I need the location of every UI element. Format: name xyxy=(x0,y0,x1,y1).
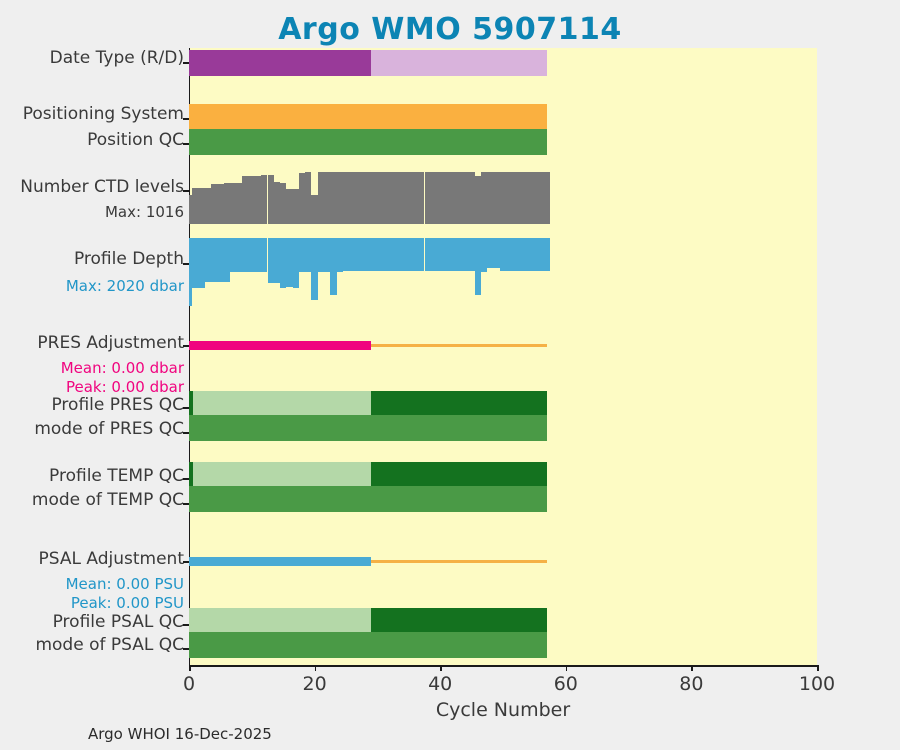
band-mode-of-psal-qc xyxy=(189,632,817,658)
row-label-date-type: Date Type (R/D) xyxy=(50,49,184,68)
band-profile-psal-qc xyxy=(189,608,817,632)
band-profile-depth xyxy=(189,238,817,306)
x-axis-label: Cycle Number xyxy=(189,699,817,721)
x-tick xyxy=(440,665,442,671)
x-tick-label: 0 xyxy=(154,673,224,695)
band-segment xyxy=(371,50,547,76)
x-tick xyxy=(691,665,693,671)
band-mode-of-temp-qc xyxy=(189,486,817,512)
row-label-profile-psal-qc: Profile PSAL QC xyxy=(53,613,184,632)
band-segment xyxy=(189,104,547,129)
row-label-psal-adjustment: PSAL Adjustment xyxy=(39,550,184,569)
row-label-pres-mean: Mean: 0.00 dbar xyxy=(61,359,184,378)
line-segment xyxy=(371,344,547,347)
band-segment xyxy=(371,608,547,632)
band-pres-adjustment xyxy=(189,334,817,356)
x-tick-label: 60 xyxy=(531,673,601,695)
x-tick-label: 100 xyxy=(782,673,852,695)
bar xyxy=(544,172,550,224)
x-tick-label: 40 xyxy=(405,673,475,695)
line-segment xyxy=(371,560,547,563)
bar xyxy=(544,238,550,271)
band-psal-adjustment xyxy=(189,550,817,572)
band-mode-of-pres-qc xyxy=(189,415,817,441)
band-profile-pres-qc xyxy=(189,391,817,415)
row-label-profile-depth: Profile Depth xyxy=(74,250,184,269)
row-label-ctd-max: Max: 1016 xyxy=(105,203,184,222)
band-position-qc xyxy=(189,129,817,155)
row-label-mode-of-psal-qc: mode of PSAL QC xyxy=(35,636,184,655)
band-positioning-system xyxy=(189,104,817,129)
band-segment xyxy=(371,391,547,415)
x-tick xyxy=(189,665,191,671)
line-segment xyxy=(189,341,371,350)
row-label-positioning-system: Positioning System xyxy=(23,105,184,124)
band-segment xyxy=(189,129,547,155)
row-label-pres-adjustment: PRES Adjustment xyxy=(37,334,184,353)
row-label-depth-max: Max: 2020 dbar xyxy=(66,277,184,296)
row-label-position-qc: Position QC xyxy=(87,131,184,150)
x-axis-line xyxy=(189,665,817,667)
row-label-mode-of-temp-qc: mode of TEMP QC xyxy=(32,491,184,510)
row-label-psal-mean: Mean: 0.00 PSU xyxy=(66,575,184,594)
band-segment xyxy=(189,50,371,76)
x-tick xyxy=(566,665,568,671)
x-tick-label: 20 xyxy=(280,673,350,695)
argo-float-summary-figure: Argo WMO 5907114 Date Type (R/D) Positio… xyxy=(0,0,900,750)
band-number-ctd-levels xyxy=(189,172,817,224)
band-segment xyxy=(189,415,547,441)
row-label-profile-temp-qc: Profile TEMP QC xyxy=(49,467,184,486)
page-title: Argo WMO 5907114 xyxy=(0,12,900,47)
row-label-mode-of-pres-qc: mode of PRES QC xyxy=(34,420,184,439)
row-label-psal-peak: Peak: 0.00 PSU xyxy=(71,594,184,613)
band-segment xyxy=(371,462,547,486)
row-label-profile-pres-qc: Profile PRES QC xyxy=(51,396,184,415)
band-date-type xyxy=(189,50,817,76)
line-segment xyxy=(189,557,371,566)
band-segment xyxy=(189,608,371,632)
band-segment xyxy=(189,632,547,658)
band-profile-temp-qc xyxy=(189,462,817,486)
band-segment xyxy=(193,462,371,486)
figure-footer: Argo WHOI 16-Dec-2025 xyxy=(88,725,272,743)
x-tick xyxy=(315,665,317,671)
row-label-number-ctd-levels: Number CTD levels xyxy=(20,178,184,197)
x-tick-label: 80 xyxy=(656,673,726,695)
x-tick xyxy=(817,665,819,671)
band-segment xyxy=(193,391,371,415)
band-segment xyxy=(189,486,547,512)
